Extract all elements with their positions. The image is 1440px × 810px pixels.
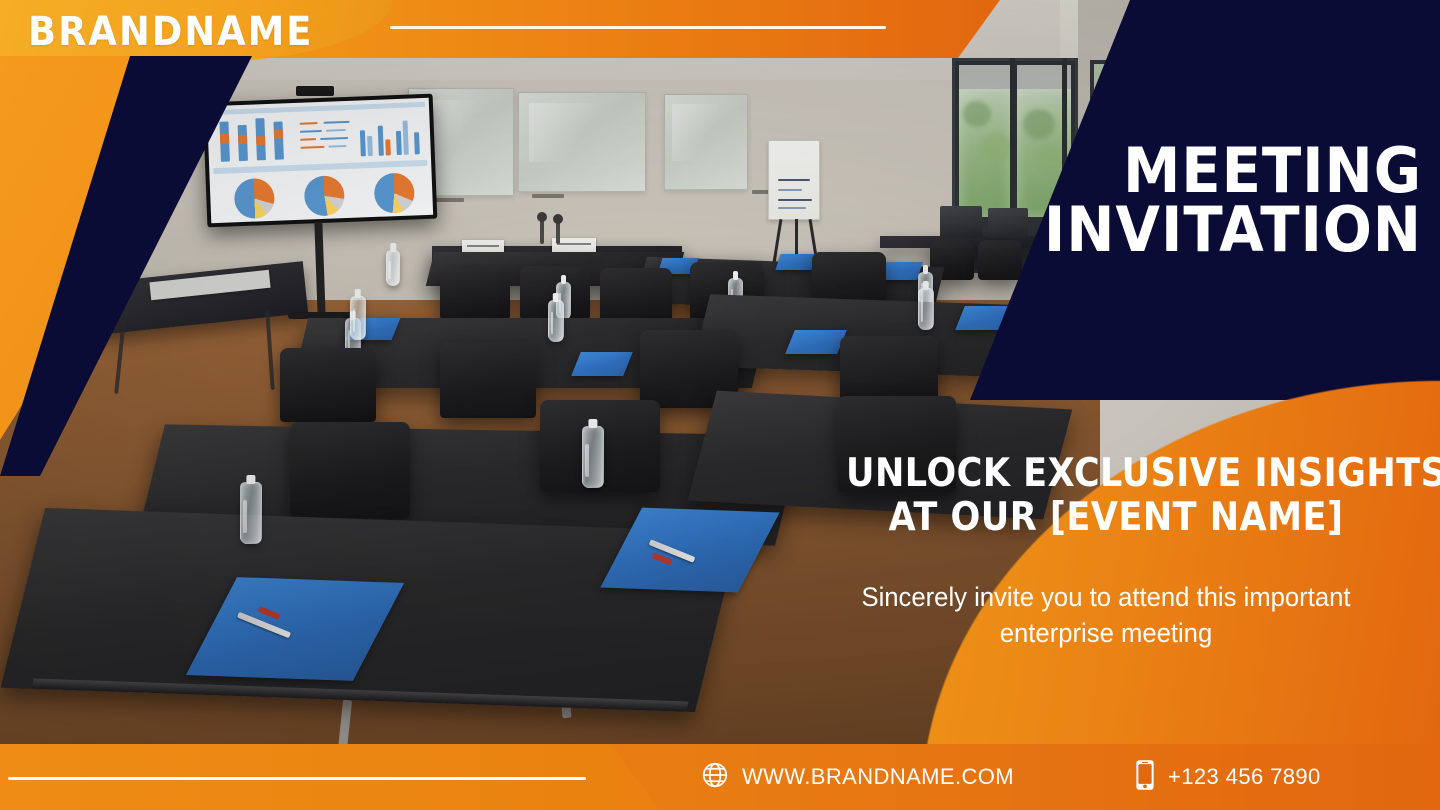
headline-line-2: AT OUR [EVENT NAME] bbox=[846, 496, 1386, 540]
phone-number: +123 456 7890 bbox=[1168, 764, 1321, 790]
footer-phone-item[interactable]: +123 456 7890 bbox=[1134, 759, 1321, 796]
footer-contact-items: WWW.BRANDNAME.COM +123 456 7890 bbox=[690, 744, 1440, 810]
header-divider-line bbox=[390, 26, 886, 29]
title-line-2: INVITATION bbox=[985, 201, 1422, 260]
body-line-1: Sincerely invite you to attend this impo… bbox=[812, 580, 1401, 616]
phone-icon bbox=[1134, 759, 1156, 796]
website-url: WWW.BRANDNAME.COM bbox=[742, 764, 1014, 790]
headline-line-1: UNLOCK EXCLUSIVE INSIGHTS bbox=[846, 452, 1386, 496]
invitation-poster: BRANDNAME MEETING INVITATION UNLOCK EXCL… bbox=[0, 0, 1440, 810]
headline: UNLOCK EXCLUSIVE INSIGHTS AT OUR [EVENT … bbox=[846, 452, 1386, 539]
footer-website-item[interactable]: WWW.BRANDNAME.COM bbox=[700, 760, 1014, 795]
page-title: MEETING INVITATION bbox=[985, 142, 1422, 260]
body-line-2: enterprise meeting bbox=[812, 616, 1401, 652]
footer-divider-line bbox=[8, 777, 586, 780]
brand-name: BRANDNAME bbox=[28, 9, 313, 55]
body-text: Sincerely invite you to attend this impo… bbox=[812, 580, 1401, 651]
globe-icon bbox=[700, 760, 730, 795]
